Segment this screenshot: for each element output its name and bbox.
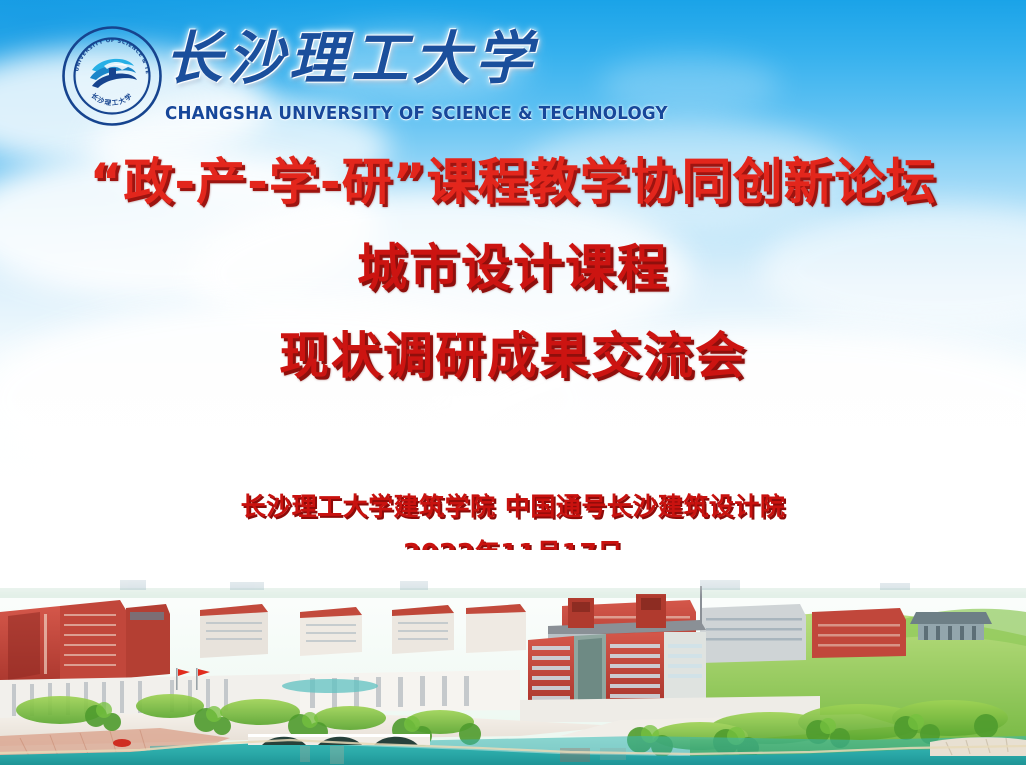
university-logo: CHANGSHA UNIVERSITY OF SCIENCE & TECHNOL…	[57, 18, 497, 130]
logo-chinese-name: 长沙理工大学	[165, 20, 495, 100]
university-seal-icon: CHANGSHA UNIVERSITY OF SCIENCE & TECHNOL…	[62, 26, 162, 126]
title-slide: CHANGSHA UNIVERSITY OF SCIENCE & TECHNOL…	[0, 0, 1026, 765]
logo-english-name: CHANGSHA UNIVERSITY OF SCIENCE & TECHNOL…	[165, 104, 490, 124]
title-line-2: 城市设计课程	[0, 236, 1026, 300]
title-block: “政-产-学-研”课程教学协同创新论坛 城市设计课程 现状调研成果交流会	[0, 150, 1026, 388]
title-line-1: “政-产-学-研”课程教学协同创新论坛	[0, 150, 1026, 214]
logo-chinese-name-text: 长沙理工大学	[165, 20, 495, 98]
title-line-3: 现状调研成果交流会	[0, 324, 1026, 388]
campus-photo	[0, 550, 1026, 765]
organizations-line: 长沙理工大学建筑学院 中国通号长沙建筑设计院	[0, 487, 1026, 523]
